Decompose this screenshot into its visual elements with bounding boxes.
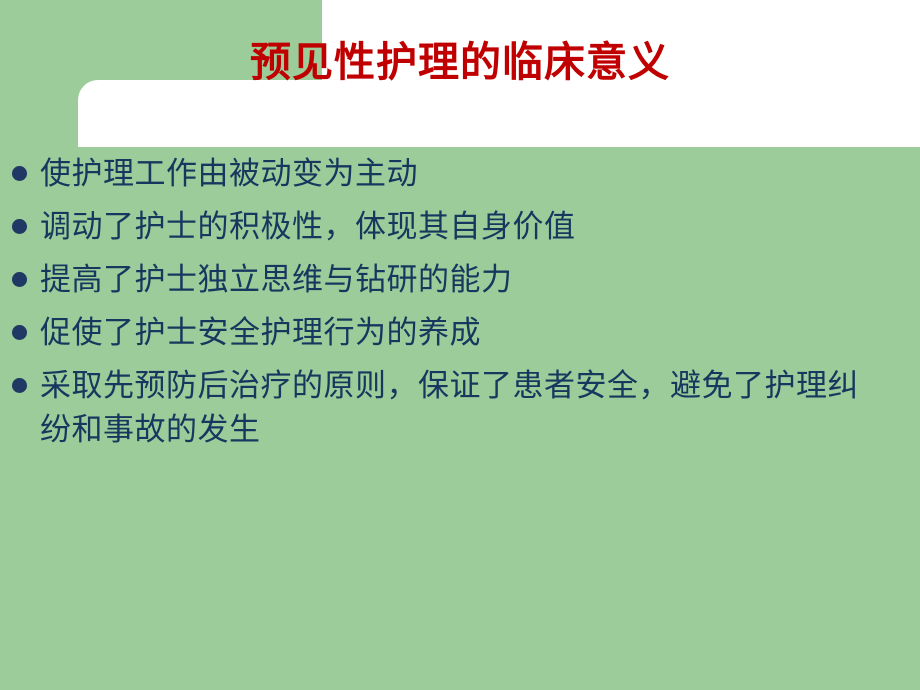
list-item-label: 提高了护士独立思维与钻研的能力 bbox=[40, 258, 860, 302]
presentation-slide: 预见性护理的临床意义 使护理工作由被动变为主动 调动了护士的积极性，体现其自身价… bbox=[0, 0, 920, 690]
list-item: 采取先预防后治疗的原则，保证了患者安全，避免了护理纠纷和事故的发生 bbox=[0, 364, 900, 452]
list-item: 调动了护士的积极性，体现其自身价值 bbox=[0, 205, 900, 249]
bullet-dot-icon bbox=[12, 378, 27, 393]
bullet-dot-icon bbox=[12, 166, 27, 181]
list-item-label: 使护理工作由被动变为主动 bbox=[40, 152, 860, 196]
header-white-rounded-tab bbox=[78, 80, 328, 147]
list-item: 提高了护士独立思维与钻研的能力 bbox=[0, 258, 900, 302]
list-item-label: 采取先预防后治疗的原则，保证了患者安全，避免了护理纠纷和事故的发生 bbox=[40, 364, 860, 452]
list-item-label: 促使了护士安全护理行为的养成 bbox=[40, 311, 860, 355]
bullet-list: 使护理工作由被动变为主动 调动了护士的积极性，体现其自身价值 提高了护士独立思维… bbox=[0, 152, 900, 461]
list-item: 使护理工作由被动变为主动 bbox=[0, 152, 900, 196]
bullet-dot-icon bbox=[12, 272, 27, 287]
bullet-dot-icon bbox=[12, 325, 27, 340]
slide-title: 预见性护理的临床意义 bbox=[0, 36, 920, 88]
bullet-dot-icon bbox=[12, 219, 27, 234]
list-item: 促使了护士安全护理行为的养成 bbox=[0, 311, 900, 355]
list-item-label: 调动了护士的积极性，体现其自身价值 bbox=[40, 205, 860, 249]
